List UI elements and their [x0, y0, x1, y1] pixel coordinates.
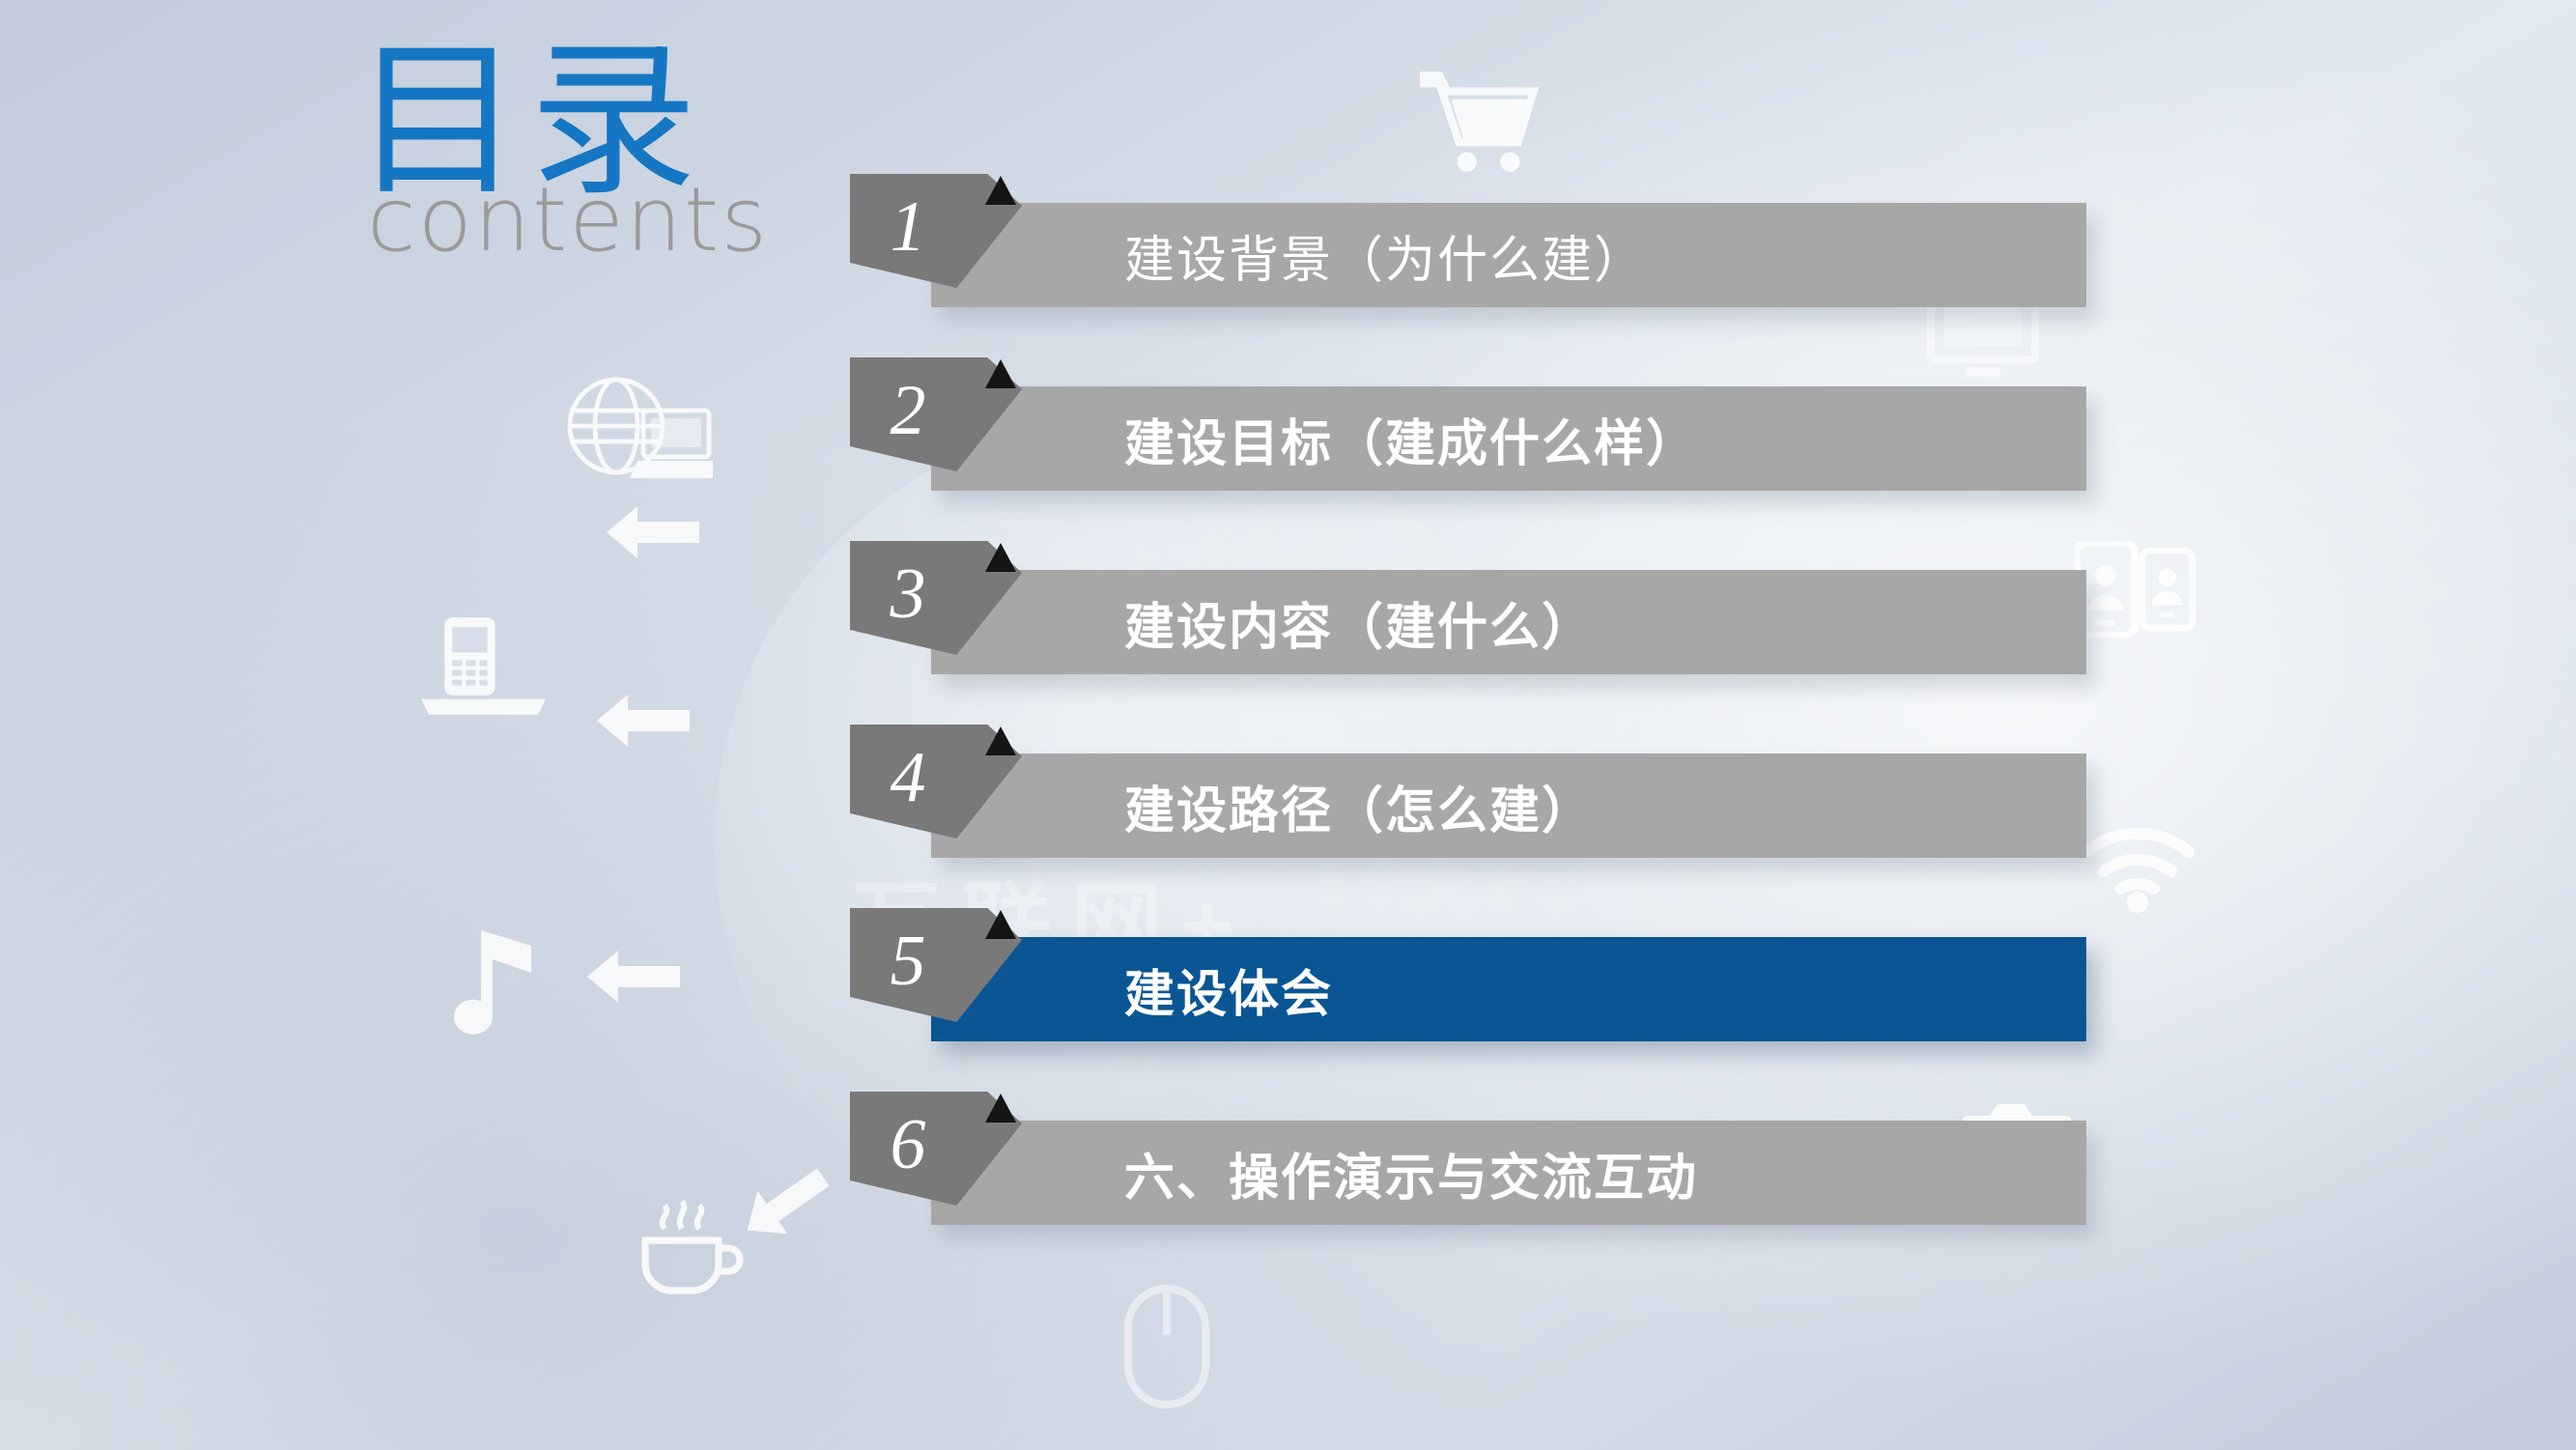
toc-item-bar[interactable]: 建设目标（建成什么样）: [931, 386, 2086, 491]
toc-item[interactable]: 建设内容（建什么） 3: [850, 541, 2086, 725]
toc-item-label: 六、操作演示与交流互动: [1124, 1137, 1698, 1209]
toc-item-bar[interactable]: 建设路径（怎么建）: [931, 753, 2086, 858]
toc-item-active[interactable]: 建设体会 5: [850, 908, 2086, 1092]
mobile-dock-icon: [413, 613, 553, 715]
toc-item-number: 1: [850, 174, 966, 280]
arrow-diagonal-icon: [730, 1152, 840, 1255]
toc-item-bar[interactable]: 建设内容（建什么）: [931, 570, 2086, 674]
shopping-cart-icon: [1420, 68, 1545, 182]
toc-item[interactable]: 建设路径（怎么建） 4: [850, 725, 2086, 908]
page-subtitle: contents: [367, 185, 778, 255]
toc-item-bar[interactable]: 六、操作演示与交流互动: [931, 1121, 2086, 1225]
toc-item-bar[interactable]: 建设体会: [931, 937, 2086, 1041]
toc-item-bar[interactable]: 建设背景（为什么建）: [931, 203, 2086, 307]
toc-item[interactable]: 建设目标（建成什么样） 2: [850, 357, 2086, 541]
table-of-contents: 建设背景（为什么建） 1 建设目标（建成什么样） 2 建设内容（建什么） 3 建…: [850, 174, 2086, 1275]
toc-item-number: 6: [850, 1092, 966, 1198]
arrow-left-icon: [587, 947, 680, 1007]
music-note-icon: [435, 923, 543, 1046]
mobile-users-icon: [2075, 541, 2198, 638]
toc-item-number: 2: [850, 357, 966, 464]
toc-item-number: 5: [850, 908, 966, 1014]
arrow-left-icon: [607, 502, 699, 562]
arrow-left-icon: [597, 691, 690, 751]
presentation-slide: 互联网+: [0, 0, 2576, 1450]
toc-item-number: 4: [850, 725, 966, 831]
coffee-cup-icon: [630, 1198, 746, 1302]
toc-item-label: 建设背景（为什么建）: [1124, 219, 1646, 292]
toc-item-label: 建设路径（怎么建）: [1124, 770, 1594, 842]
toc-item-label: 建设目标（建成什么样）: [1124, 403, 1698, 475]
toc-item[interactable]: 六、操作演示与交流互动 6: [850, 1092, 2086, 1275]
toc-item-number: 3: [850, 541, 966, 647]
slide-title-block: 目录 contents: [354, 44, 778, 255]
wifi-icon: [2079, 821, 2196, 914]
mouse-icon: [1120, 1285, 1213, 1410]
toc-item-label: 建设内容（建什么）: [1124, 586, 1594, 659]
toc-item[interactable]: 建设背景（为什么建） 1: [850, 174, 2086, 357]
toc-item-label: 建设体会: [1124, 953, 1333, 1026]
globe-laptop-icon: [558, 372, 713, 498]
